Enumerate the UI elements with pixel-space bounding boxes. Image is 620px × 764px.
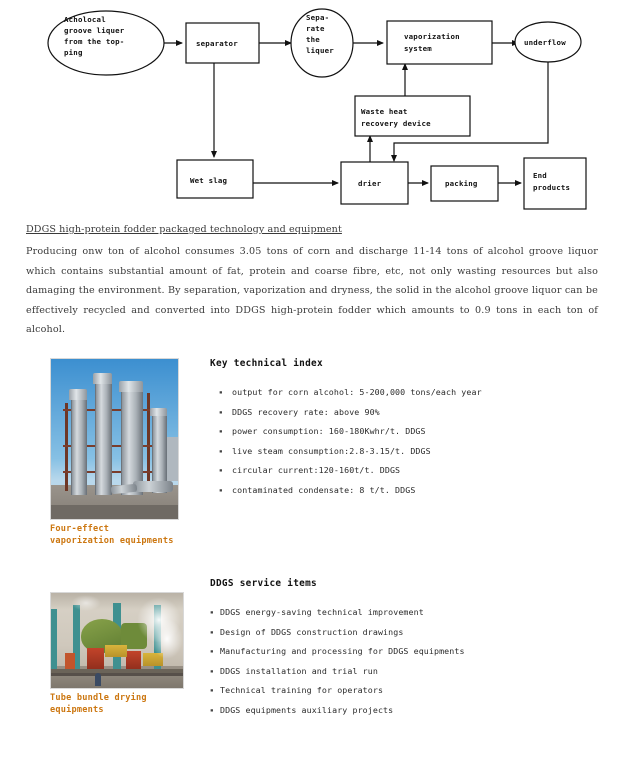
list-item: power consumption: 160-180Kwhr/t. DDGS: [210, 422, 610, 442]
node-vaporization-system: [387, 21, 492, 64]
photo-artwork-vaporization: [51, 359, 178, 519]
list-item: contaminated condensate: 8 t/t. DDGS: [210, 481, 610, 501]
article: DDGS high-protein fodder packaged techno…: [26, 224, 598, 340]
photo-block-drying: Tube bundle drying equipments: [50, 592, 184, 716]
photo-caption-drying: Tube bundle drying equipments: [50, 693, 184, 716]
technical-index-list: output for corn alcohol: 5-200,000 tons/…: [210, 383, 610, 500]
service-items-title: DDGS service items: [210, 578, 610, 589]
node-drier-label: drier: [358, 179, 382, 188]
photo-tube-bundle-drying: [50, 592, 184, 689]
service-items-block: DDGS service items DDGS energy-saving te…: [210, 578, 610, 721]
process-flowchart: Acholocal groove liquer from the top- pi…: [0, 0, 620, 218]
photo-block-vaporization: Four-effect vaporization equipments: [50, 358, 179, 547]
list-item: Design of DDGS construction drawings: [210, 623, 610, 643]
node-underflow-label: underflow: [524, 38, 566, 47]
technical-index-title: Key technical index: [210, 358, 610, 369]
photo-caption-vaporization: Four-effect vaporization equipments: [50, 524, 179, 547]
service-items-list: DDGS energy-saving technical improvement…: [210, 603, 610, 721]
list-item: DDGS energy-saving technical improvement: [210, 603, 610, 623]
list-item: Technical training for operators: [210, 681, 610, 701]
list-item: DDGS recovery rate: above 90%: [210, 403, 610, 423]
node-packing-label: packing: [445, 179, 478, 188]
node-wet-slag-label: Wet slag: [190, 176, 227, 185]
photo-artwork-drying: [51, 593, 183, 688]
list-item: DDGS installation and trial run: [210, 662, 610, 682]
list-item: output for corn alcohol: 5-200,000 tons/…: [210, 383, 610, 403]
list-item: live steam consumption:2.8-3.15/t. DDGS: [210, 442, 610, 462]
article-body: Producing onw ton of alcohol consumes 3.…: [26, 242, 598, 340]
list-item: circular current:120-160t/t. DDGS: [210, 461, 610, 481]
article-heading: DDGS high-protein fodder packaged techno…: [26, 224, 598, 235]
technical-index-block: Key technical index output for corn alco…: [210, 358, 610, 500]
photo-four-effect-vaporization: [50, 358, 179, 520]
list-item: Manufacturing and processing for DDGS eq…: [210, 642, 610, 662]
node-separator-label: separator: [196, 39, 238, 48]
node-waste-heat-recovery-device: [355, 96, 470, 136]
list-item: DDGS equipments auxiliary projects: [210, 701, 610, 721]
